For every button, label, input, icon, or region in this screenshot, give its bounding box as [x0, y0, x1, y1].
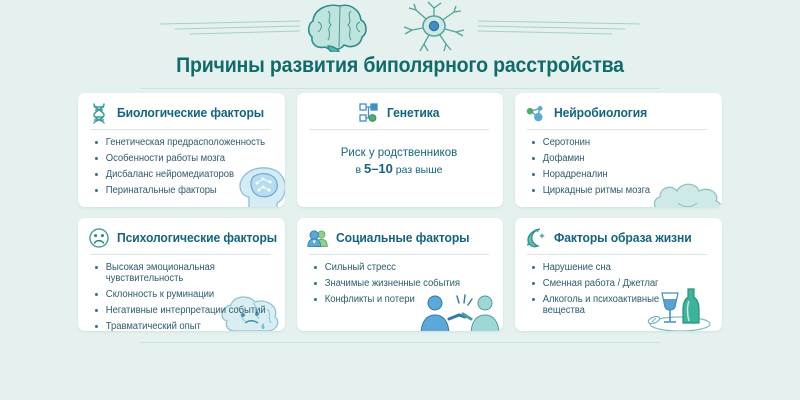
card-header-social: Социальные факторы	[307, 227, 492, 254]
card-header-biological: Биологические факторы	[88, 102, 273, 129]
card-title: Социальные факторы	[336, 231, 469, 245]
header-divider	[90, 254, 271, 255]
item-list: Генетическая предрасположенность Особенн…	[88, 137, 273, 197]
header-divider	[309, 129, 490, 130]
genetics-stat: Риск у родственников в 5–10 раз выше	[307, 137, 492, 178]
card-header-psychological: Психологические факторы	[88, 227, 273, 254]
stat-value: 5–10	[364, 161, 393, 176]
item-list: Сильный стресс Значимые жизненные событи…	[307, 262, 492, 306]
item-list: Высокая эмоциональная чувствительность С…	[88, 262, 273, 332]
header-divider	[527, 129, 708, 130]
decorative-lines-right	[478, 21, 640, 34]
list-item: Норадреналин	[531, 169, 706, 181]
card-title: Факторы образа жизни	[554, 231, 692, 245]
brain-icon	[309, 5, 366, 52]
item-list: Серотонин Дофамин Норадреналин Циркадные…	[525, 137, 710, 197]
card-title: Генетика	[387, 106, 439, 120]
list-item: Перинатальные факторы	[94, 185, 269, 197]
list-item: Склонность к руминации	[94, 289, 269, 301]
divider-top	[140, 88, 660, 89]
moon-icon	[525, 227, 547, 249]
card-header-lifestyle: Факторы образа жизни	[525, 227, 710, 254]
header-divider	[90, 129, 271, 130]
card-social[interactable]: Социальные факторы Сильный стресс Значим…	[297, 218, 504, 332]
list-item: Сменная работа / Джетлаг	[531, 278, 706, 290]
pedigree-icon	[358, 102, 380, 124]
card-header-neurobiology: Нейробиология	[525, 102, 710, 129]
card-title: Нейробиология	[554, 106, 647, 120]
molecule-icon	[525, 102, 547, 124]
header-divider	[309, 254, 490, 255]
list-item: Циркадные ритмы мозга	[531, 185, 706, 197]
card-header-genetics: Генетика	[307, 102, 492, 129]
list-item: Сильный стресс	[313, 262, 488, 274]
list-item: Негативные интерпретации событий	[94, 305, 269, 317]
stat-prefix: в	[355, 164, 364, 176]
card-title: Биологические факторы	[117, 106, 264, 120]
card-biological[interactable]: Биологические факторы Генетическая предр…	[78, 93, 285, 207]
list-item: Высокая эмоциональная чувствительность	[94, 262, 269, 285]
divider-bottom	[140, 342, 660, 343]
list-item: Генетическая предрасположенность	[94, 137, 269, 149]
stat-suffix: раз выше	[393, 164, 443, 176]
item-list: Нарушение сна Сменная работа / Джетлаг А…	[525, 262, 710, 317]
list-item: Серотонин	[531, 137, 706, 149]
card-psychological[interactable]: Психологические факторы Высокая эмоциона…	[78, 218, 285, 332]
list-item: Особенности работы мозга	[94, 153, 269, 165]
pills	[647, 315, 660, 325]
card-title: Психологические факторы	[117, 231, 277, 245]
header-illustration	[0, 0, 800, 52]
page-title: Причины развития биполярного расстройств…	[28, 54, 772, 78]
list-item: Дисбаланс нейромедиаторов	[94, 169, 269, 181]
stat-line-2: в 5–10 раз выше	[307, 161, 492, 178]
stat-line-1: Риск у родственников	[341, 147, 457, 159]
card-genetics[interactable]: Генетика Риск у родственников в 5–10 раз…	[297, 93, 504, 207]
card-neurobiology[interactable]: Нейробиология Серотонин Дофамин Норадрен…	[515, 93, 722, 207]
dna-icon	[88, 102, 110, 124]
neuron-icon	[404, 2, 464, 51]
cards-grid: Биологические факторы Генетическая предр…	[78, 93, 722, 331]
list-item: Конфликты и потери	[313, 294, 488, 306]
infographic-canvas: Причины развития биполярного расстройств…	[0, 0, 800, 400]
list-item: Алкоголь и психоактивные вещества	[531, 294, 664, 317]
decorative-lines-left	[160, 21, 300, 34]
two-people-icon	[307, 227, 329, 249]
card-lifestyle[interactable]: Факторы образа жизни Нарушение сна Сменн…	[515, 218, 722, 332]
list-item: Нарушение сна	[531, 262, 706, 274]
header-divider	[527, 254, 708, 255]
list-item: Травматический опыт	[94, 321, 269, 331]
list-item: Значимые жизненные события	[313, 278, 488, 290]
sad-face-icon	[88, 227, 110, 249]
list-item: Дофамин	[531, 153, 706, 165]
